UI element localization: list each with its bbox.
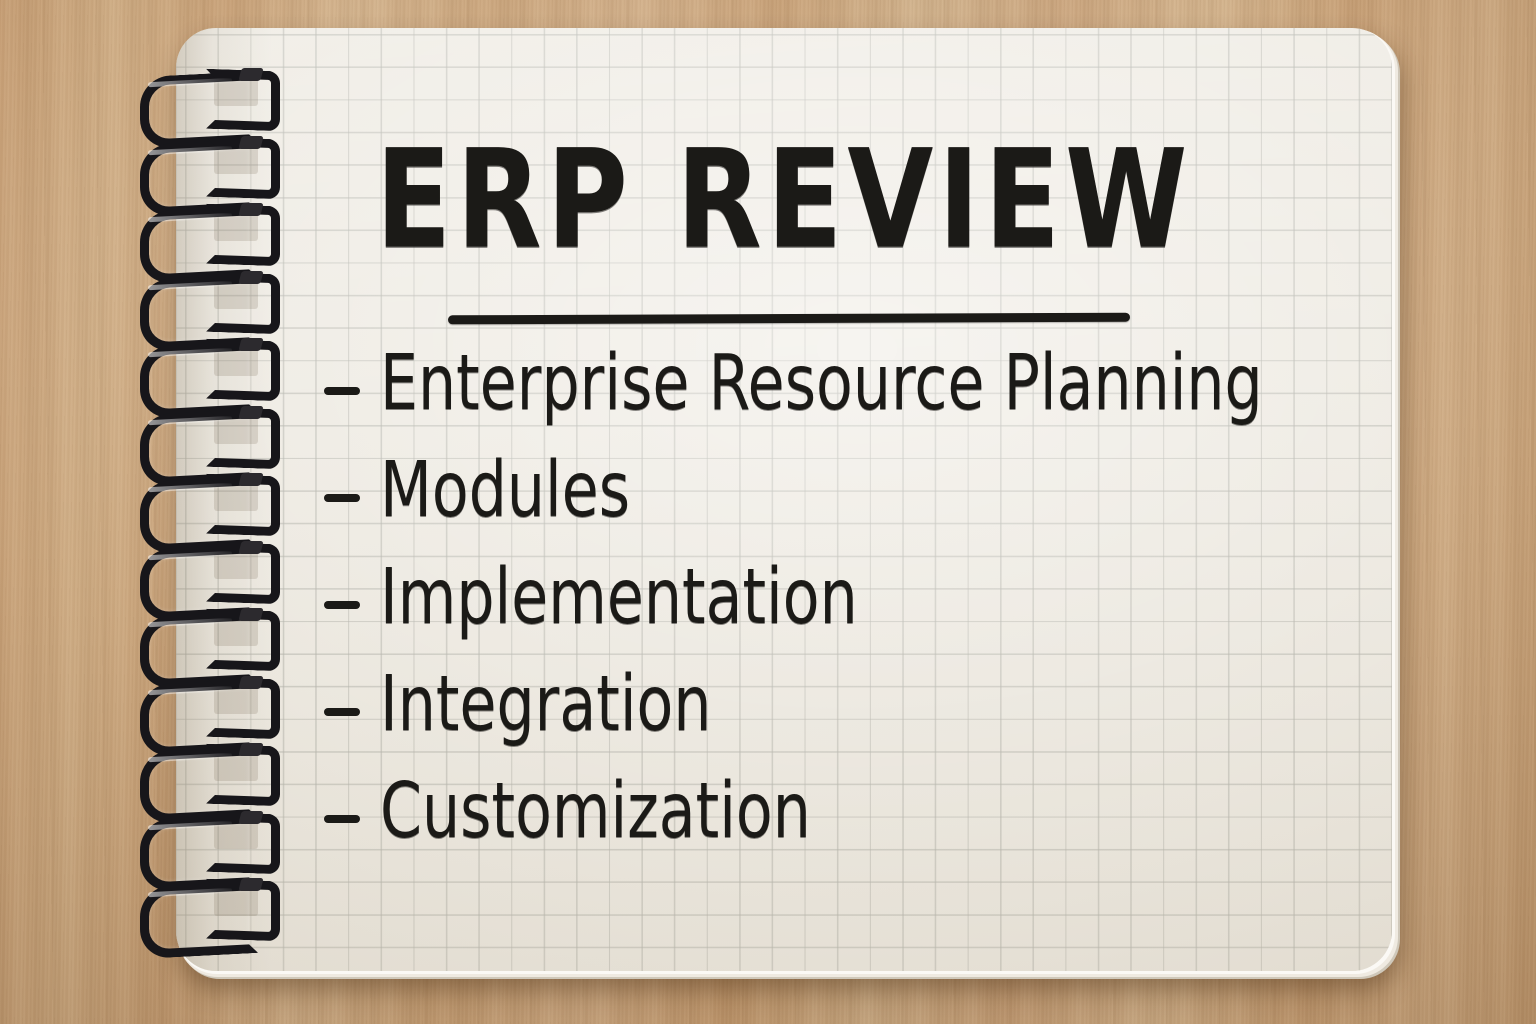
- handwritten-content: ERP REVIEW Enterprise Resource Planning …: [176, 28, 1392, 971]
- page-title: ERP REVIEW: [182, 132, 1386, 269]
- notebook-scene: ERP REVIEW Enterprise Resource Planning …: [0, 0, 1536, 1024]
- grid-paper-page: ERP REVIEW Enterprise Resource Planning …: [176, 28, 1392, 971]
- dash-bullet-icon: [324, 601, 360, 609]
- dash-bullet-icon: [324, 494, 360, 502]
- list-item: Customization: [324, 786, 1364, 893]
- list-item-label: Implementation: [380, 559, 858, 636]
- list-item-label: Customization: [380, 773, 811, 850]
- dash-bullet-icon: [324, 815, 360, 823]
- spiral-notebook: ERP REVIEW Enterprise Resource Planning …: [176, 28, 1400, 978]
- list-item-label: Integration: [380, 666, 711, 743]
- dash-bullet-icon: [324, 708, 360, 716]
- title-underline: [448, 313, 1130, 325]
- list-item-label: Modules: [380, 452, 630, 529]
- list-item-label: Enterprise Resource Planning: [380, 345, 1263, 422]
- dash-bullet-icon: [324, 387, 360, 395]
- topic-list: Enterprise Resource Planning Modules Imp…: [324, 358, 1364, 893]
